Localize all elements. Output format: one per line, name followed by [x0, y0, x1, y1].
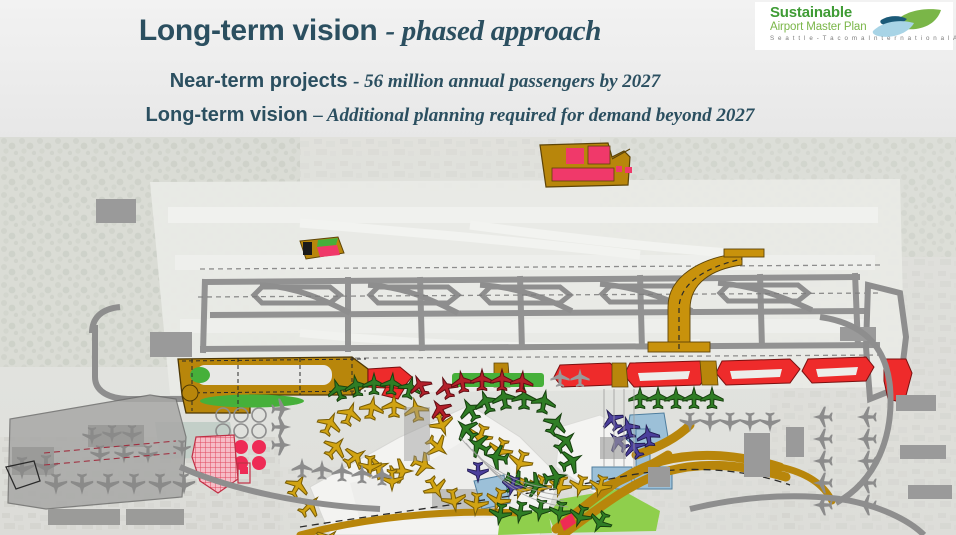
slide-header: Long-term vision - phased approach Near-… [0, 0, 956, 137]
sustainable-airport-master-plan-logo: Sustainable Airport Master Plan S e a t … [755, 2, 953, 50]
subtitle-long-term-bold: Long-term vision [146, 104, 308, 126]
subtitle-near-term-italic: - 56 million annual passengers by 2027 [353, 71, 660, 92]
green-apron-b [200, 395, 304, 408]
leaf-and-wave-mark [867, 7, 947, 41]
runway-16R-34L [180, 319, 870, 333]
page-title-row: Long-term vision - phased approach [0, 14, 740, 48]
subtitle-long-term-italic: – Additional planning required for deman… [313, 105, 754, 126]
slide-root: Long-term vision - phased approach Near-… [0, 0, 956, 535]
runway-16L-34R [168, 207, 878, 223]
west-pad-a [150, 332, 192, 357]
subtitle-long-term: Long-term vision – Additional planning r… [0, 104, 900, 127]
runway-16C-34C [175, 255, 875, 270]
north-pad-a [96, 199, 136, 223]
page-title-bold: Long-term vision [139, 14, 378, 47]
subtitle-near-term-bold: Near-term projects [170, 70, 348, 92]
airport-master-plan-map [0, 137, 956, 535]
page-title-italic: - phased approach [385, 15, 601, 47]
page-title: Long-term vision - phased approach [139, 14, 601, 47]
subtitle-near-term: Near-term projects - 56 million annual p… [0, 70, 830, 93]
map-canvas [0, 137, 956, 535]
green-apron-a [190, 367, 210, 383]
